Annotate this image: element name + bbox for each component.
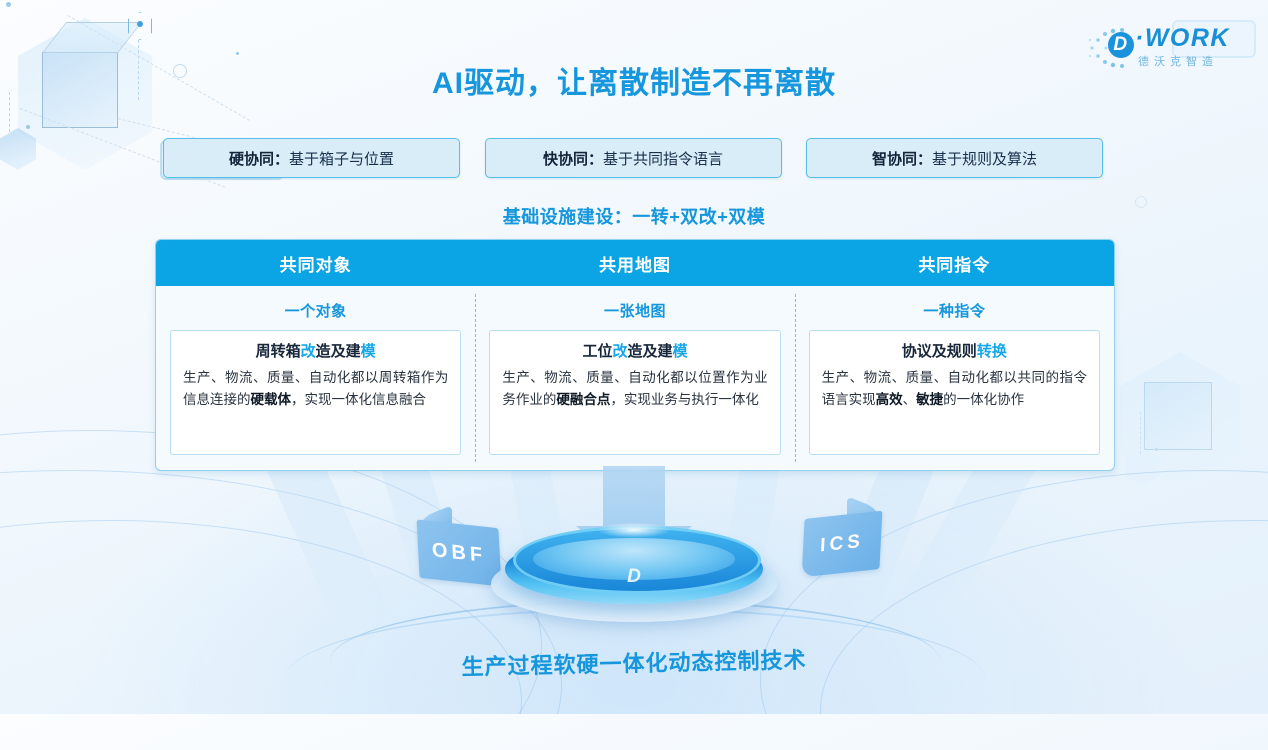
light-beam-4 <box>887 470 1036 620</box>
card-body-text: 生产、物流、质量、自动化都以周转箱作为信息连接的硬载体，实现一体化信息融合 <box>183 367 448 411</box>
pill-hard-collaboration[interactable]: 硬协同：基于箱子与位置 <box>163 138 460 178</box>
panel-column-3: 一种指令 协议及规则转换 生产、物流、质量、自动化都以共同的指令语言实现高效、敏… <box>795 286 1114 470</box>
pillars-panel: 共同对象 共用地图 共同指令 一个对象 周转箱改造及建模 生产、物流、质量、自动… <box>155 239 1115 471</box>
card-title: 周转箱改造及建模 <box>183 340 448 361</box>
hex-shape-right <box>1120 352 1240 488</box>
pill-fast-collaboration[interactable]: 快协同：基于共同指令语言 <box>485 138 782 178</box>
pill-text: 基于共同指令语言 <box>603 148 723 169</box>
cube-wireframe-right <box>1144 382 1212 450</box>
pill-label: 智协同： <box>872 148 932 169</box>
column-subtitle: 一个对象 <box>170 300 461 321</box>
logo-wordmark-text: ·WORK <box>1135 24 1230 52</box>
hex-shape-top-dot <box>128 12 152 40</box>
pill-text: 基于箱子与位置 <box>289 148 394 169</box>
arrow-shaft <box>603 466 665 528</box>
pill-smart-collaboration[interactable]: 智协同：基于规则及算法 <box>806 138 1103 178</box>
page-title: AI驱动，让离散制造不再离散 <box>0 58 1268 102</box>
platform-highlight <box>597 522 671 538</box>
platform-graphic: D <box>489 520 779 630</box>
decor-dot-2 <box>6 2 11 7</box>
decor-dashed-line-3 <box>1140 412 1141 454</box>
panel-header-row: 共同对象 共用地图 共同指令 <box>156 240 1114 286</box>
platform-emblem-d: D <box>627 566 641 588</box>
column-card[interactable]: 周转箱改造及建模 生产、物流、质量、自动化都以周转箱作为信息连接的硬载体，实现一… <box>170 330 461 455</box>
infrastructure-subtitle: 基础设施建设：一转+双改+双模 <box>0 203 1268 229</box>
decor-dot-3 <box>26 125 30 129</box>
ribbon-ics: ICS <box>802 511 883 578</box>
decor-dot-1 <box>137 21 143 27</box>
collaboration-pill-row: 硬协同：基于箱子与位置 快协同：基于共同指令语言 智协同：基于规则及算法 <box>163 138 1103 178</box>
card-body-text: 生产、物流、质量、自动化都以位置作为业务作业的硬融合点，实现业务与执行一体化 <box>502 367 767 411</box>
panel-column-2: 一张地图 工位改造及建模 生产、物流、质量、自动化都以位置作为业务作业的硬融合点… <box>475 286 794 470</box>
panel-header-shared-map: 共用地图 <box>475 240 794 286</box>
column-subtitle: 一张地图 <box>489 300 780 321</box>
panel-header-common-object: 共同对象 <box>156 240 475 286</box>
pill-label: 快协同： <box>543 148 603 169</box>
card-body-text: 生产、物流、质量、自动化都以共同的指令语言实现高效、敏捷的一体化协作 <box>822 367 1087 411</box>
cube-wireframe-left-top <box>42 22 142 53</box>
decor-dot-4 <box>236 52 239 55</box>
column-subtitle: 一种指令 <box>809 300 1100 321</box>
hex-shape-right-small <box>1125 448 1159 486</box>
pill-text: 基于规则及算法 <box>932 148 1037 169</box>
panel-body: 一个对象 周转箱改造及建模 生产、物流、质量、自动化都以周转箱作为信息连接的硬载… <box>156 286 1114 470</box>
column-card[interactable]: 工位改造及建模 生产、物流、质量、自动化都以位置作为业务作业的硬融合点，实现业务… <box>489 330 780 455</box>
light-beam-1 <box>267 470 394 620</box>
hex-shape-left-small <box>0 128 36 170</box>
panel-header-common-command: 共同指令 <box>795 240 1114 286</box>
pill-label: 硬协同： <box>229 148 289 169</box>
platform-inner-surface: D <box>533 538 735 580</box>
card-title: 工位改造及建模 <box>502 340 767 361</box>
decor-dot-5 <box>1155 448 1158 451</box>
column-card[interactable]: 协议及规则转换 生产、物流、质量、自动化都以共同的指令语言实现高效、敏捷的一体化… <box>809 330 1100 455</box>
card-title: 协议及规则转换 <box>822 340 1087 361</box>
panel-column-1: 一个对象 周转箱改造及建模 生产、物流、质量、自动化都以周转箱作为信息连接的硬载… <box>156 286 475 470</box>
logo-mark-d: D <box>1108 32 1134 58</box>
